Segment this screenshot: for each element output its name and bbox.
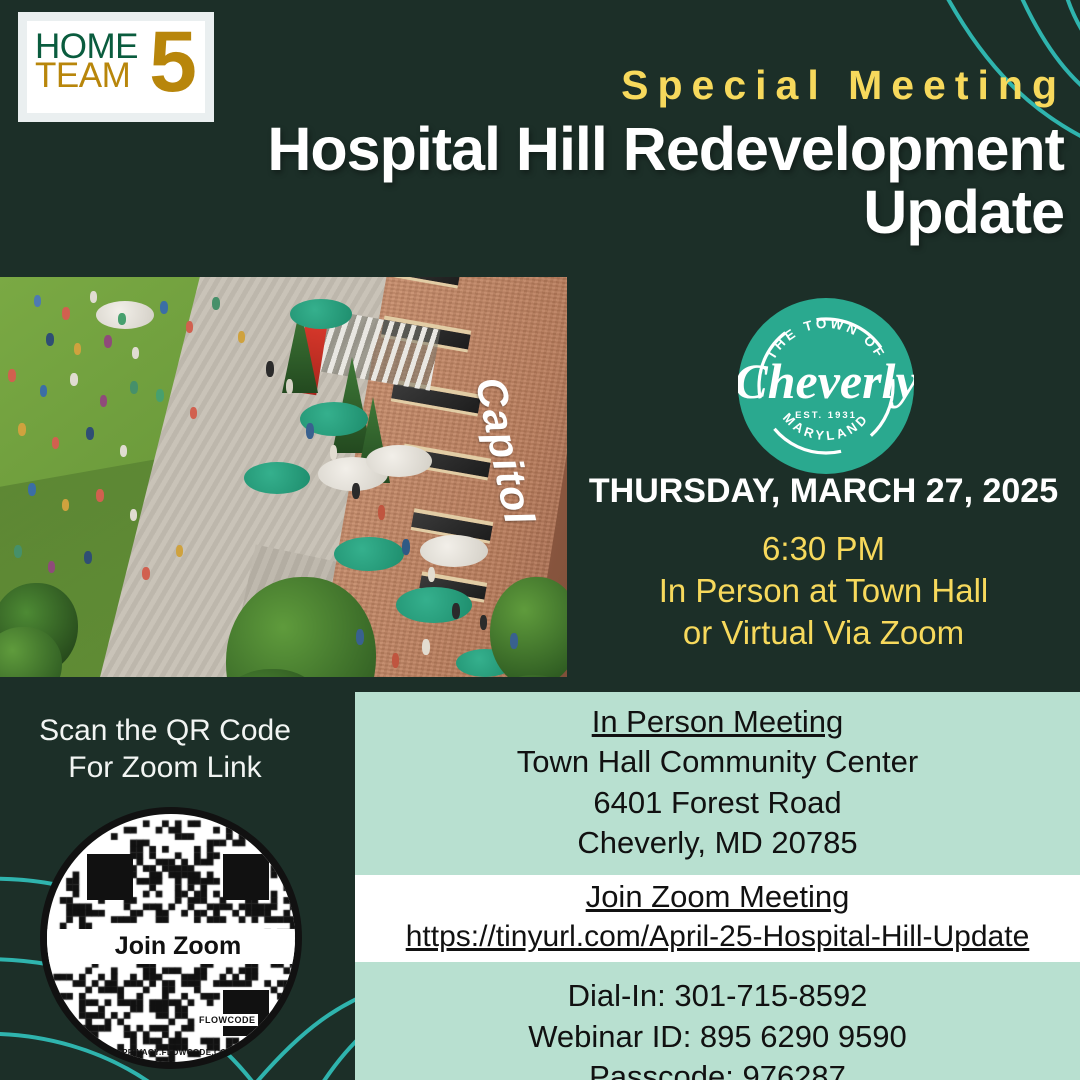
zoom-qr-code[interactable]: Join Zoom FLOWCODE PRIVACY.FLOWCODE.COM (40, 807, 302, 1069)
venue-name: Town Hall Community Center (355, 742, 1080, 782)
qr-caption-line-1: Scan the QR Code (0, 712, 330, 749)
hospital-hill-rendering: Capitol (0, 277, 567, 677)
home-team-5-logo: HOME TEAM 5 (18, 12, 214, 122)
flowcode-privacy-label: PRIVACY.FLOWCODE.COM (47, 1048, 302, 1057)
logo-line-team: TEAM (35, 61, 138, 90)
event-time-and-format: 6:30 PM In Person at Town Hall or Virtua… (567, 528, 1080, 655)
qr-caption: Scan the QR Code For Zoom Link (0, 712, 330, 786)
meeting-details-panel: In Person Meeting Town Hall Community Ce… (355, 692, 1080, 1080)
cheverly-town-seal: THE TOWN OF Cheverly EST. 1931 MARYLAND (738, 298, 914, 474)
meeting-passcode: Passcode: 976287 (355, 1057, 1080, 1080)
title-line-1: Hospital Hill Redevelopment (144, 118, 1064, 181)
qr-center-label: Join Zoom (47, 929, 302, 964)
event-time: 6:30 PM (567, 528, 1080, 570)
qr-caption-line-2: For Zoom Link (0, 749, 330, 786)
venue-city-state-zip: Cheverly, MD 20785 (355, 823, 1080, 863)
event-date: THURSDAY, MARCH 27, 2025 (567, 472, 1080, 511)
seal-established: EST. 1931 (795, 410, 857, 421)
in-person-details: In Person Meeting Town Hall Community Ce… (355, 692, 1080, 875)
title-line-2: Update (144, 181, 1064, 244)
in-person-heading: In Person Meeting (355, 702, 1080, 742)
event-flyer: HOME TEAM 5 Special Meeting Hospital Hil… (0, 0, 1080, 1080)
zoom-url-link[interactable]: https://tinyurl.com/April-25-Hospital-Hi… (355, 917, 1080, 956)
dial-in-details: Dial-In: 301-715-8592 Webinar ID: 895 62… (355, 962, 1080, 1080)
zoom-heading: Join Zoom Meeting (355, 877, 1080, 917)
venue-street: 6401 Forest Road (355, 783, 1080, 823)
logo-numeral: 5 (149, 23, 197, 102)
kicker-text: Special Meeting (621, 62, 1066, 109)
event-format-line-1: In Person at Town Hall (567, 570, 1080, 612)
flowcode-brand-label: FLOWCODE (197, 1014, 258, 1026)
zoom-details: Join Zoom Meeting https://tinyurl.com/Ap… (355, 875, 1080, 962)
event-format-line-2: or Virtual Via Zoom (567, 612, 1080, 654)
page-title: Hospital Hill Redevelopment Update (144, 118, 1064, 245)
dial-in-number: Dial-In: 301-715-8592 (355, 976, 1080, 1016)
seal-script: Cheverly (738, 353, 914, 409)
webinar-id: Webinar ID: 895 6290 9590 (355, 1017, 1080, 1057)
